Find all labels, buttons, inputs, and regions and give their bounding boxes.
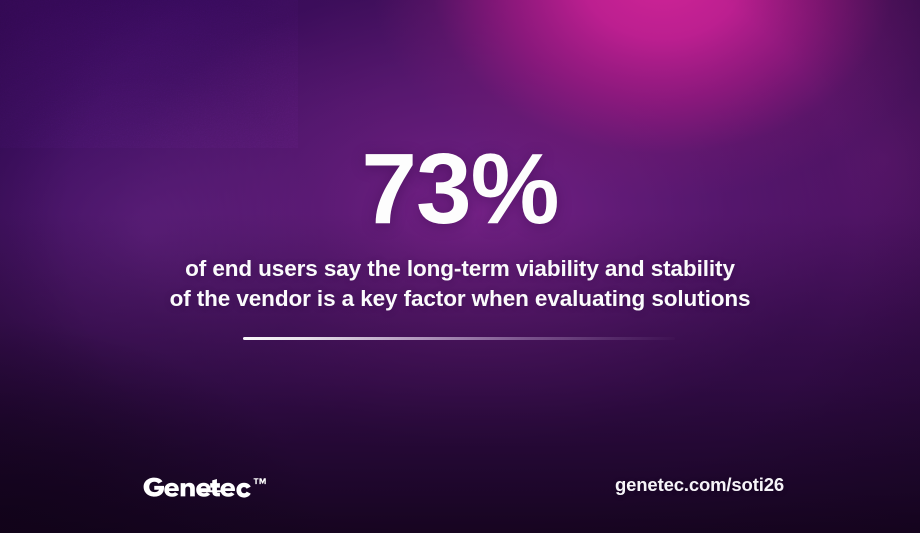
divider-rule (243, 337, 675, 340)
stat-percentage: 73% (0, 139, 920, 239)
card-content: 73% of end users say the long-term viabi… (0, 0, 920, 533)
stat-description-line-1: of end users say the long-term viability… (0, 254, 920, 284)
website-url[interactable]: genetec.com/soti26 (615, 474, 784, 496)
genetec-logo[interactable] (141, 473, 271, 499)
stat-card: 73% of end users say the long-term viabi… (0, 0, 920, 533)
stat-description-line-2: of the vendor is a key factor when evalu… (0, 284, 920, 314)
genetec-wordmark-icon (141, 473, 271, 499)
stat-description: of end users say the long-term viability… (0, 254, 920, 314)
